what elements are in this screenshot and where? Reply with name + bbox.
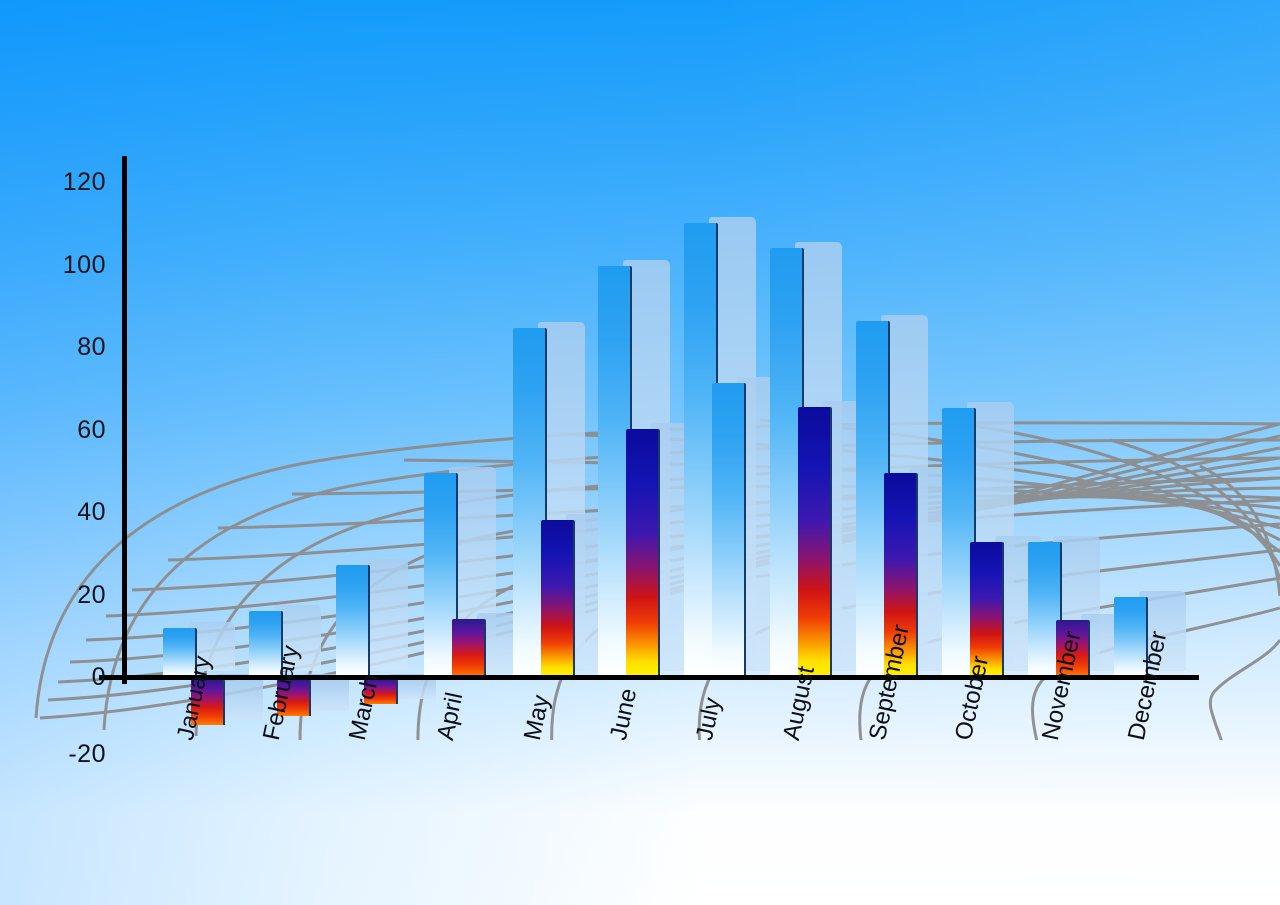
y-axis-label-20: 20 — [58, 581, 106, 610]
plot-area — [0, 0, 1280, 905]
bar-june-series2 — [626, 429, 673, 677]
bar-face — [798, 407, 832, 677]
bar-march-series1 — [336, 565, 383, 677]
y-axis-label-80: 80 — [58, 333, 106, 362]
y-axis-label--20: -20 — [58, 740, 106, 769]
x-axis-line — [99, 675, 1199, 680]
bar-chart: 120 100 80 60 40 20 0 -20 January Februa… — [0, 0, 1280, 905]
y-axis-label-120: 120 — [58, 168, 106, 197]
y-axis-line — [122, 156, 127, 684]
bar-august-series2 — [798, 407, 845, 677]
bar-may-series2 — [541, 520, 588, 677]
y-axis-label-60: 60 — [58, 416, 106, 445]
bar-face — [626, 429, 660, 677]
bar-face — [541, 520, 575, 677]
y-axis-label-100: 100 — [58, 251, 106, 280]
bar-face — [712, 383, 746, 677]
y-axis-label-0: 0 — [58, 663, 106, 692]
bar-july-series2 — [712, 383, 759, 677]
bar-face — [452, 619, 486, 677]
bar-face — [336, 565, 370, 677]
bar-april-series2 — [452, 619, 499, 677]
y-axis-label-40: 40 — [58, 498, 106, 527]
y-tick-0 — [108, 676, 126, 680]
